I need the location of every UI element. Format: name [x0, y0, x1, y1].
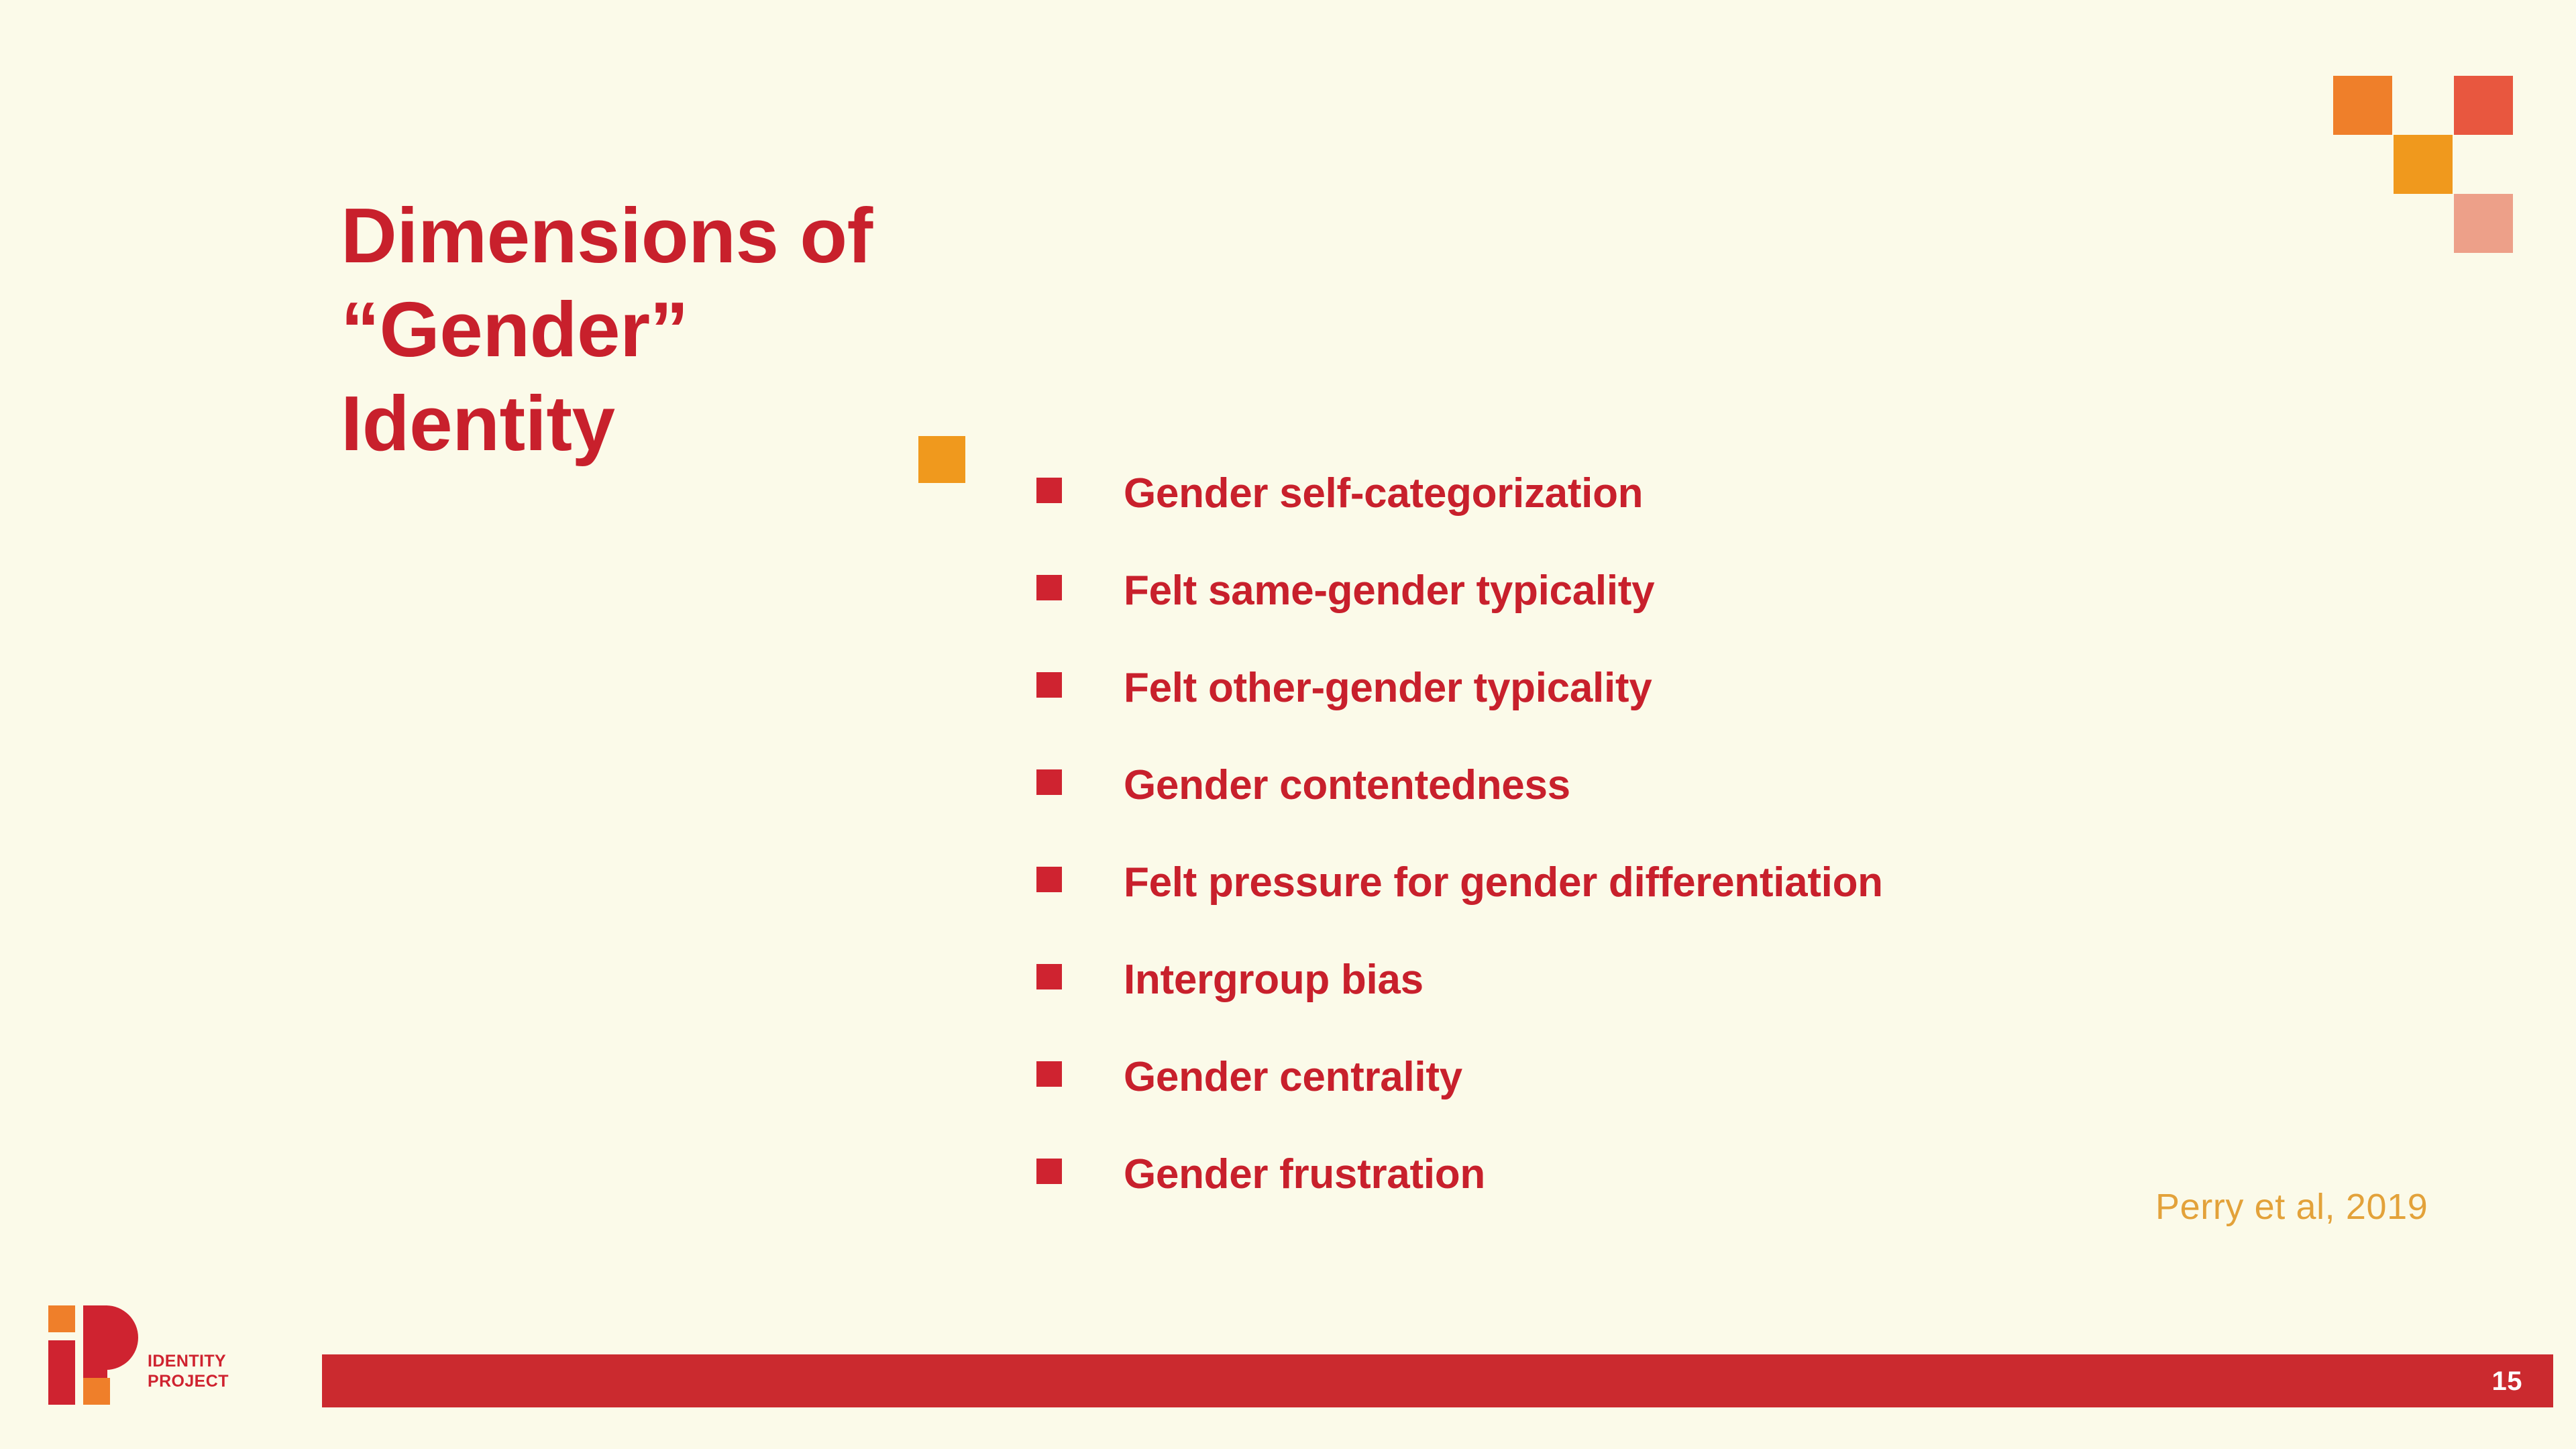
logo-p-square-icon: [83, 1378, 110, 1405]
list-item-label: Gender frustration: [1124, 1150, 1485, 1199]
list-item: Gender centrality: [1036, 1053, 2445, 1150]
bullet-square-icon: [1036, 964, 1062, 989]
footer-bar: 15: [322, 1354, 2553, 1407]
list-item-label: Gender centrality: [1124, 1053, 1462, 1102]
decoration-square-amber: [2394, 135, 2453, 194]
bullet-square-icon: [1036, 769, 1062, 795]
logo-i-stem-icon: [48, 1340, 75, 1405]
list-item-label: Gender self-categorization: [1124, 470, 1643, 518]
source-citation: Perry et al, 2019: [2155, 1186, 2428, 1228]
list-item: Intergroup bias: [1036, 956, 2445, 1053]
list-item-label: Felt same-gender typicality: [1124, 567, 1654, 615]
list-item: Felt other-gender typicality: [1036, 664, 2445, 761]
list-item: Gender self-categorization: [1036, 470, 2445, 567]
bullet-list: Gender self-categorization Felt same-gen…: [1036, 470, 2445, 1248]
bullet-square-icon: [1036, 672, 1062, 698]
list-item-label: Intergroup bias: [1124, 956, 1424, 1004]
bullet-square-icon: [1036, 1159, 1062, 1184]
slide-canvas: Dimensions of “Gender” Identity Gender s…: [0, 0, 2576, 1449]
bullet-square-icon: [1036, 478, 1062, 503]
identity-project-logo: IDENTITY PROJECT: [48, 1305, 243, 1405]
decoration-square-orange: [2333, 76, 2392, 135]
list-item-label: Gender contentedness: [1124, 761, 1570, 810]
slide-title: Dimensions of “Gender” Identity: [341, 189, 1012, 470]
decoration-square-red-orange: [2454, 76, 2513, 135]
list-item: Felt pressure for gender differentiation: [1036, 859, 2445, 956]
decoration-square-salmon: [2454, 194, 2513, 253]
list-item: Felt same-gender typicality: [1036, 567, 2445, 664]
logo-wordmark: IDENTITY PROJECT: [148, 1351, 229, 1391]
bullet-square-icon: [1036, 867, 1062, 892]
bullet-square-icon: [1036, 1061, 1062, 1087]
page-number: 15: [2492, 1368, 2523, 1395]
list-item-label: Felt other-gender typicality: [1124, 664, 1652, 712]
list-item: Gender contentedness: [1036, 761, 2445, 859]
bullet-square-icon: [1036, 575, 1062, 600]
logo-p-bowl-icon: [106, 1305, 138, 1370]
list-item-label: Felt pressure for gender differentiation: [1124, 859, 1883, 907]
title-accent-square: [918, 436, 965, 483]
logo-i-dot-icon: [48, 1305, 75, 1332]
